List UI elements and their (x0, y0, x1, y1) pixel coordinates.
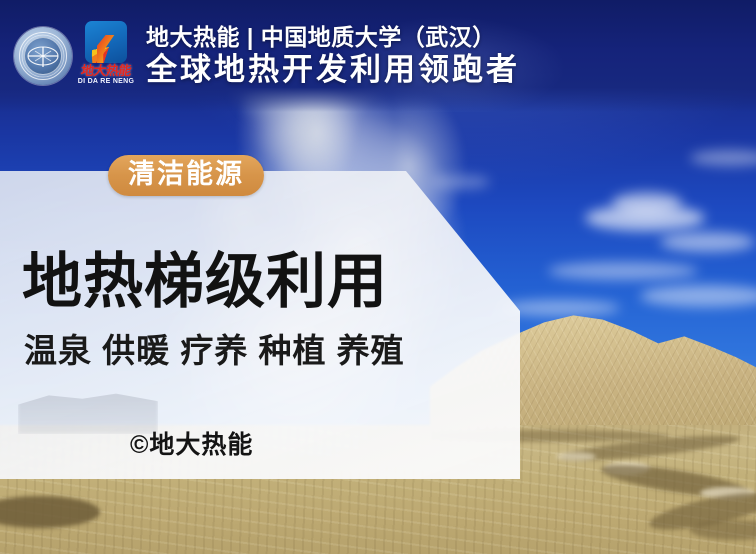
page-subtitle: 温泉 供暖 疗养 种植 养殖 (24, 332, 405, 371)
cloud (660, 232, 755, 252)
clean-energy-badge: 清洁能源 (108, 155, 264, 196)
poster: 地大热能 DI DA RE NENG 地大热能 | 中国地质大学（武汉） 全球地… (0, 0, 756, 554)
seal-glyph-icon (14, 27, 72, 85)
logo-en-text: DI DA RE NENG (71, 78, 141, 85)
didareneng-logo-icon: 地大热能 DI DA RE NENG (84, 21, 128, 91)
copyright-notice: ©地大热能 (130, 432, 253, 460)
salt-patch (556, 452, 596, 461)
header-text: 地大热能 | 中国地质大学（武汉） 全球地热开发利用领跑者 (146, 23, 520, 89)
cloud (548, 262, 698, 280)
header-line-1: 地大热能 | 中国地质大学（武汉） (146, 23, 520, 52)
logo-cn-text: 地大热能 (70, 64, 142, 77)
logo-tile (85, 21, 127, 63)
page-title: 地热梯级利用 (22, 250, 388, 314)
header: 地大热能 DI DA RE NENG 地大热能 | 中国地质大学（武汉） 全球地… (0, 0, 756, 112)
header-line-2: 全球地热开发利用领跑者 (146, 52, 520, 89)
university-seal-icon (14, 27, 72, 85)
cloud (585, 205, 705, 231)
